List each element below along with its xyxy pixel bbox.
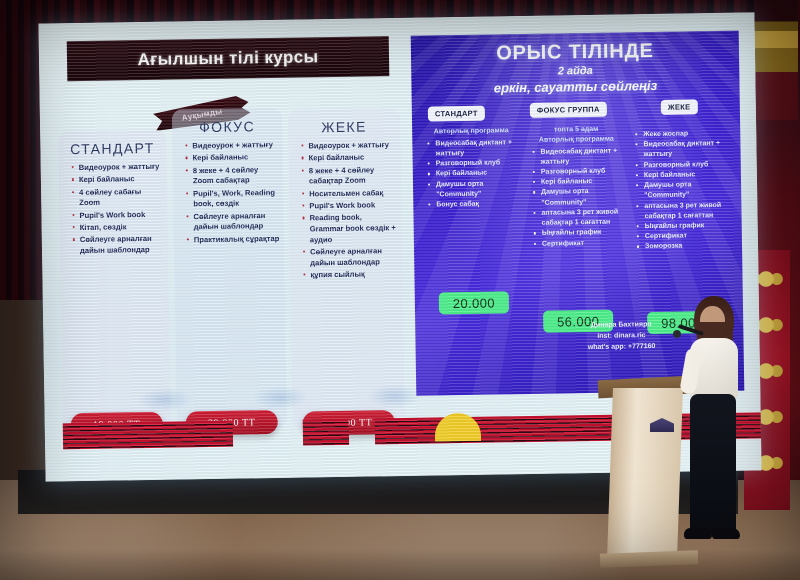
tab-label: ЖЕКЕ bbox=[668, 102, 691, 111]
list-item: Дамушы орта "Community" bbox=[536, 187, 626, 209]
russian-features-standart: Видеосабақ диктант + жаттығу Разговорный… bbox=[420, 138, 523, 211]
russian-column-standart: Авторлық программа Видеосабақ диктант + … bbox=[420, 126, 523, 211]
russian-features-jeke: Жеке жоспар Видеосабақ диктант + жаттығу… bbox=[628, 129, 732, 253]
column-header-fokus: топта 5 адам Авторлық программа bbox=[525, 124, 627, 145]
list-item: Сөйлеуге арналған дайын шаблондар bbox=[187, 211, 279, 234]
watermark-logo bbox=[366, 384, 422, 409]
list-item: Кері байланыс bbox=[187, 152, 279, 164]
english-course-title: Ағылшын тілі курсы bbox=[137, 47, 318, 70]
list-item: Pupil's Work book bbox=[73, 209, 163, 221]
list-item: Pupil's Work book bbox=[303, 200, 397, 212]
list-item: аптасына 3 рет живой сабақтар 1 сағаттан bbox=[639, 200, 729, 222]
list-item: Сертификат bbox=[537, 238, 627, 250]
russian-column-fokus: топта 5 адам Авторлық программа Видеосаб… bbox=[525, 124, 629, 249]
microphone-head-icon bbox=[673, 330, 681, 338]
speaker-shoe-left bbox=[684, 528, 712, 539]
english-plan-cards: СТАНДАРТ Видеоурок + жаттығу Кері байлан… bbox=[50, 88, 411, 442]
list-item: Сөйлеуге арналған дайын шаблондар bbox=[304, 246, 398, 269]
list-item: 8 жеке + 4 сөйлеу сабақтар Zoom bbox=[303, 165, 397, 188]
gold-ornament bbox=[754, 0, 798, 120]
tab-label: ФОКУС ГРУППА bbox=[537, 105, 600, 115]
list-item: Зоморозка bbox=[640, 241, 730, 253]
plan-features-jeke: Видеоурок + жаттығу Кері байланыс 8 жеке… bbox=[288, 140, 402, 282]
plan-card-jeke[interactable]: ЖЕКЕ Видеоурок + жаттығу Кері байланыс 8… bbox=[288, 108, 405, 430]
tab-label: СТАНДАРТ bbox=[435, 109, 478, 119]
speaker-trousers bbox=[690, 394, 736, 534]
lectern bbox=[607, 388, 683, 558]
list-item: Видеосабақ диктант + жаттығу bbox=[430, 138, 520, 160]
plan-title-fokus: ФОКУС bbox=[172, 108, 282, 142]
english-course-title-bar: Ағылшын тілі курсы bbox=[67, 36, 390, 81]
english-course-panel: Ағылшын тілі курсы Ауқымды СТАНДАРТ Виде… bbox=[49, 36, 411, 442]
list-item: Видеоурок + жаттығу bbox=[186, 140, 278, 152]
list-item: Видеосабақ диктант + жаттығу bbox=[535, 146, 625, 168]
list-item: құпия сыйлық bbox=[304, 269, 398, 281]
speaker-shoe-right bbox=[712, 528, 740, 539]
russian-features-fokus: Видеосабақ диктант + жаттығу Разговорный… bbox=[525, 146, 629, 250]
russian-plan-columns: Авторлық программа Видеосабақ диктант + … bbox=[412, 123, 743, 328]
list-item: аптасына 3 рет живой сабақтар 1 сағаттан bbox=[536, 207, 626, 229]
plan-card-fokus[interactable]: ФОКУС Видеоурок + жаттығу Кері байланыс … bbox=[172, 108, 287, 430]
list-item: Reading book, Grammar book сөздік + ауди… bbox=[303, 212, 397, 246]
price-value: 20.000 bbox=[453, 295, 495, 311]
list-item: Практикалық сұрақтар bbox=[188, 234, 280, 246]
price-pill-russian-standart: 20.000 bbox=[439, 291, 509, 314]
list-item: Кері байланыс bbox=[73, 174, 163, 186]
list-item: Кітап, сөздік bbox=[74, 222, 164, 234]
list-item: Дамушы орта "Community" bbox=[639, 180, 729, 202]
tab-jeke[interactable]: ЖЕКЕ bbox=[661, 99, 698, 115]
tab-fokus-gruppa[interactable]: ФОКУС ГРУППА bbox=[530, 102, 607, 118]
stripe-segment bbox=[63, 421, 233, 450]
list-item: Дамушы орта "Community" bbox=[431, 179, 521, 201]
list-item: Видеоурок + жаттығу bbox=[302, 140, 396, 152]
list-item: Кері байланыс bbox=[303, 152, 397, 164]
list-item: Видеоурок + жаттығу bbox=[73, 162, 163, 174]
list-item: 8 жеке + 4 сөйлеу Zoom сабақтар bbox=[187, 164, 279, 187]
russian-column-jeke: Жеке жоспар Видеосабақ диктант + жаттығу… bbox=[628, 123, 732, 253]
list-item: Pupil's, Work, Reading book, сөздік bbox=[187, 188, 279, 211]
tab-standart[interactable]: СТАНДАРТ bbox=[428, 106, 485, 122]
list-item: Сөйлеуге арналған дайын шаблондар bbox=[74, 234, 164, 257]
stripe-segment bbox=[303, 419, 349, 446]
plan-card-standart[interactable]: СТАНДАРТ Видеоурок + жаттығу Кері байлан… bbox=[58, 130, 171, 432]
list-item: Носительмен сабақ bbox=[303, 188, 397, 200]
plan-title-standart: СТАНДАРТ bbox=[58, 130, 166, 164]
column-header-standart: Авторлық программа bbox=[420, 126, 522, 137]
list-item: Видеосабақ диктант + жаттығу bbox=[638, 139, 728, 161]
plan-features-standart: Видеоурок + жаттығу Кері байланыс 4 сөйл… bbox=[59, 162, 168, 257]
plan-features-fokus: Видеоурок + жаттығу Кері байланыс 8 жеке… bbox=[172, 140, 284, 246]
list-item: Бонус сабақ bbox=[431, 199, 521, 211]
plan-title-jeke: ЖЕКЕ bbox=[288, 108, 400, 142]
auditorium-scene: Ағылшын тілі курсы Ауқымды СТАНДАРТ Виде… bbox=[0, 0, 800, 580]
list-item: 4 сөйлеу сабағы Zoom bbox=[73, 186, 163, 209]
